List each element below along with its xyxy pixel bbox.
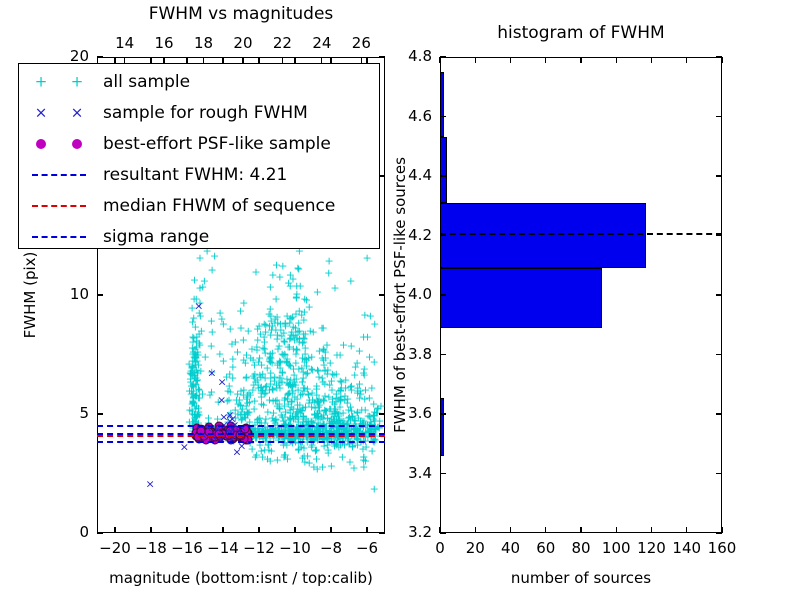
- axis-tick: [379, 56, 385, 57]
- all-sample-point: +: [236, 305, 245, 316]
- all-sample-point: +: [263, 454, 272, 465]
- all-sample-point: +: [268, 413, 277, 424]
- scatter-reference-line-sigma-lower: [97, 441, 385, 443]
- all-sample-point: +: [324, 444, 333, 455]
- all-sample-point: +: [191, 380, 200, 391]
- all-sample-point: +: [336, 391, 345, 402]
- axis-tick: [439, 57, 440, 63]
- legend-item-label: best-effort PSF-like sample: [103, 134, 331, 154]
- axis-tick: [580, 57, 581, 63]
- rough-sample-point: ×: [207, 368, 216, 379]
- all-sample-point: +: [286, 281, 295, 292]
- histogram-bar: [440, 137, 447, 202]
- legend-item-label: all sample: [103, 72, 190, 92]
- axis-tick: [379, 532, 385, 533]
- scatter-xtick-label: −18: [135, 539, 167, 557]
- legend-item: resultant FWHM: 4.21: [19, 159, 379, 190]
- axis-tick: [716, 175, 722, 176]
- all-sample-point: +: [194, 403, 203, 414]
- all-sample-point: +: [323, 368, 332, 379]
- scatter-yaxis-label: FWHM (pix): [21, 252, 39, 339]
- axis-tick: [114, 527, 115, 533]
- histogram-xtick-label: 60: [536, 539, 555, 557]
- filled-circle-marker: [72, 139, 82, 149]
- scatter-top-xtick-label: 26: [352, 34, 371, 52]
- axis-tick: [366, 527, 367, 533]
- all-sample-point: +: [327, 413, 336, 424]
- axis-tick: [97, 294, 103, 295]
- histogram-title: histogram of FWHM: [440, 23, 722, 43]
- histogram-xtick-label: 120: [637, 539, 666, 557]
- all-sample-point: +: [300, 294, 309, 305]
- axis-tick: [716, 116, 722, 117]
- axis-tick: [475, 527, 476, 533]
- histogram-ytick-label: 3.2: [408, 523, 432, 541]
- scatter-top-xtick-label: 20: [233, 34, 252, 52]
- scatter-xtick-label: −8: [320, 539, 342, 557]
- axis-tick: [716, 56, 722, 57]
- axis-tick: [545, 57, 546, 63]
- scatter-xtick-label: −20: [99, 539, 131, 557]
- figure-canvas: FWHM vs magnitudes +++++++++++++++++++++…: [0, 0, 800, 600]
- scatter-top-xtick-label: 14: [115, 34, 134, 52]
- all-sample-point: +: [275, 372, 284, 383]
- all-sample-point: +: [275, 271, 284, 282]
- all-sample-point: +: [244, 406, 253, 417]
- axis-tick: [716, 473, 722, 474]
- legend-box: ++all sample××sample for rough FWHMbest-…: [18, 63, 380, 249]
- axis-tick: [716, 235, 722, 236]
- all-sample-point: +: [215, 348, 224, 359]
- all-sample-point: +: [319, 322, 328, 333]
- axis-tick: [716, 294, 722, 295]
- all-sample-point: +: [277, 331, 286, 342]
- all-sample-point: +: [361, 405, 370, 416]
- all-sample-point: +: [242, 372, 251, 383]
- all-sample-point: +: [318, 461, 327, 472]
- legend-item: ××sample for rough FWHM: [19, 97, 379, 128]
- histogram-ytick-label: 3.6: [408, 404, 432, 422]
- scatter-top-xtick-label: 22: [273, 34, 292, 52]
- all-sample-point: +: [266, 329, 275, 340]
- all-sample-point: +: [295, 305, 304, 316]
- scatter-top-xtick-label: 18: [194, 34, 213, 52]
- legend-item-label: sample for rough FWHM: [103, 103, 308, 123]
- all-sample-point: +: [361, 456, 370, 467]
- axis-tick: [294, 527, 295, 533]
- dashed-line: [32, 205, 86, 207]
- axis-tick: [616, 527, 617, 533]
- histogram-ytick-label: 4.0: [408, 285, 432, 303]
- histogram-xtick-label: 20: [466, 539, 485, 557]
- all-sample-point: +: [272, 259, 281, 270]
- filled-circle-marker: [36, 139, 46, 149]
- rough-sample-point: ×: [145, 479, 154, 490]
- all-sample-point: +: [251, 377, 260, 388]
- all-sample-point: +: [359, 331, 368, 342]
- all-sample-point: +: [210, 251, 219, 262]
- scatter-top-xtick-label: 16: [155, 34, 174, 52]
- all-sample-point: +: [365, 352, 374, 363]
- axis-tick: [379, 294, 385, 295]
- scatter-ytick-label: 0: [79, 523, 89, 541]
- dashdot-line: [32, 236, 86, 238]
- axis-tick: [440, 532, 446, 533]
- all-sample-point: +: [226, 323, 235, 334]
- scatter-xtick-label: −10: [279, 539, 311, 557]
- dashed-line: [32, 174, 86, 176]
- axis-tick: [510, 527, 511, 533]
- all-sample-point: +: [257, 398, 266, 409]
- all-sample-point: +: [284, 359, 293, 370]
- histogram-ytick-label: 4.4: [408, 166, 432, 184]
- axis-tick: [440, 56, 446, 57]
- axis-tick: [580, 527, 581, 533]
- axis-tick: [440, 175, 446, 176]
- scatter-xtick-label: −12: [243, 539, 275, 557]
- histogram-bar: [440, 268, 602, 328]
- axis-tick: [440, 473, 446, 474]
- all-sample-point: +: [289, 344, 298, 355]
- rough-sample-point: ×: [194, 300, 203, 311]
- axis-tick: [440, 354, 446, 355]
- histogram-xtick-label: 80: [571, 539, 590, 557]
- scatter-ytick-label: 10: [70, 285, 89, 303]
- legend-item-label: sigma range: [103, 227, 209, 247]
- histogram-plot-area: [440, 57, 722, 533]
- histogram-ytick-label: 4.8: [408, 47, 432, 65]
- all-sample-point: +: [298, 353, 307, 364]
- all-sample-point: +: [266, 303, 275, 314]
- histogram-xtick-label: 40: [501, 539, 520, 557]
- scatter-xaxis-label: magnitude (bottom:isnt / top:calib): [97, 569, 385, 587]
- axis-tick: [150, 527, 151, 533]
- histogram-ytick-label: 4.2: [408, 226, 432, 244]
- all-sample-point: +: [346, 275, 355, 286]
- all-sample-point: +: [369, 398, 378, 409]
- axis-tick: [475, 57, 476, 63]
- histogram-xaxis-label: number of sources: [440, 569, 722, 587]
- scatter-xtick-label: −14: [207, 539, 239, 557]
- all-sample-point: +: [319, 344, 328, 355]
- axis-tick: [716, 354, 722, 355]
- all-sample-point: +: [207, 265, 216, 276]
- all-sample-point: +: [251, 267, 260, 278]
- all-sample-point: +: [350, 369, 359, 380]
- all-sample-point: +: [298, 377, 307, 388]
- all-sample-point: +: [313, 286, 322, 297]
- histogram-ytick-label: 3.4: [408, 464, 432, 482]
- scatter-xtick-label: −16: [171, 539, 203, 557]
- all-sample-point: +: [355, 345, 364, 356]
- legend-item: best-effort PSF-like sample: [19, 128, 379, 159]
- all-sample-point: +: [298, 338, 307, 349]
- scatter-reference-line-sigma-upper: [97, 425, 385, 427]
- all-sample-point: +: [233, 398, 242, 409]
- scatter-reference-line-median-fwhm: [97, 435, 385, 437]
- histogram-xtick-label: 140: [672, 539, 701, 557]
- all-sample-point: +: [327, 461, 336, 472]
- all-sample-point: +: [366, 311, 375, 322]
- axis-tick: [686, 527, 687, 533]
- all-sample-point: +: [228, 353, 237, 364]
- cross-marker: ×: [71, 105, 84, 120]
- axis-tick: [545, 527, 546, 533]
- all-sample-point: +: [286, 314, 295, 325]
- scatter-top-xtick-label: 24: [312, 34, 331, 52]
- axis-tick: [379, 413, 385, 414]
- scatter-ytick-label: 5: [79, 404, 89, 422]
- histogram-ytick-label: 3.8: [408, 345, 432, 363]
- axis-tick: [330, 527, 331, 533]
- all-sample-point: +: [312, 381, 321, 392]
- axis-tick: [222, 527, 223, 533]
- histogram-bar: [440, 72, 444, 137]
- all-sample-point: +: [297, 404, 306, 415]
- all-sample-point: +: [298, 452, 307, 463]
- all-sample-point: +: [255, 320, 264, 331]
- all-sample-point: +: [252, 344, 261, 355]
- all-sample-point: +: [244, 325, 253, 336]
- all-sample-point: +: [319, 396, 328, 407]
- plus-marker: +: [35, 74, 48, 89]
- all-sample-point: +: [336, 350, 345, 361]
- legend-item: sigma range: [19, 221, 379, 252]
- axis-tick: [258, 527, 259, 533]
- axis-tick: [440, 116, 446, 117]
- histogram-xtick-label: 160: [708, 539, 737, 557]
- rough-sample-point: ×: [217, 394, 226, 405]
- all-sample-point: +: [286, 413, 295, 424]
- axis-tick: [721, 57, 722, 63]
- axis-tick: [510, 57, 511, 63]
- all-sample-point: +: [369, 410, 378, 421]
- legend-item-label: median FHWM of sequence: [103, 196, 335, 216]
- axis-tick: [716, 532, 722, 533]
- legend-item: median FHWM of sequence: [19, 190, 379, 221]
- all-sample-point: +: [205, 390, 214, 401]
- all-sample-point: +: [195, 283, 204, 294]
- axis-tick: [616, 57, 617, 63]
- all-sample-point: +: [349, 462, 358, 473]
- histogram-median-line: [440, 233, 722, 235]
- axis-tick: [97, 413, 103, 414]
- histogram-bar: [440, 203, 646, 268]
- all-sample-point: +: [275, 357, 284, 368]
- histogram-xtick-label: 100: [602, 539, 631, 557]
- legend-item: ++all sample: [19, 66, 379, 97]
- axis-tick: [440, 294, 446, 295]
- all-sample-point: +: [265, 355, 274, 366]
- axis-tick: [440, 413, 446, 414]
- histogram-bar: [440, 398, 444, 456]
- histogram-yaxis-label: FWHM of best-effort PSF-like sources: [391, 157, 409, 433]
- all-sample-point: +: [296, 389, 305, 400]
- all-sample-point: +: [266, 281, 275, 292]
- axis-tick: [716, 413, 722, 414]
- rough-sample-point: ×: [217, 376, 226, 387]
- all-sample-point: +: [309, 326, 318, 337]
- all-sample-point: +: [294, 263, 303, 274]
- axis-tick: [97, 532, 103, 533]
- axis-tick: [186, 527, 187, 533]
- axis-tick: [686, 57, 687, 63]
- all-sample-point: +: [360, 364, 369, 375]
- all-sample-point: +: [201, 351, 210, 362]
- axis-tick: [97, 56, 103, 57]
- legend-item-label: resultant FWHM: 4.21: [103, 165, 287, 185]
- axis-tick: [651, 57, 652, 63]
- all-sample-point: +: [239, 354, 248, 365]
- all-sample-point: +: [197, 325, 206, 336]
- axis-tick: [440, 235, 446, 236]
- all-sample-point: +: [208, 326, 217, 337]
- all-sample-point: +: [370, 483, 379, 494]
- histogram-xtick-label: 0: [435, 539, 445, 557]
- all-sample-point: +: [361, 384, 370, 395]
- cross-marker: ×: [35, 105, 48, 120]
- all-sample-point: +: [324, 267, 333, 278]
- all-sample-point: +: [363, 253, 372, 264]
- scatter-title: FWHM vs magnitudes: [97, 4, 385, 24]
- all-sample-point: +: [330, 282, 339, 293]
- axis-tick: [651, 527, 652, 533]
- plus-marker: +: [71, 74, 84, 89]
- scatter-xtick-label: −6: [356, 539, 378, 557]
- all-sample-point: +: [251, 451, 260, 462]
- histogram-ytick-label: 4.6: [408, 107, 432, 125]
